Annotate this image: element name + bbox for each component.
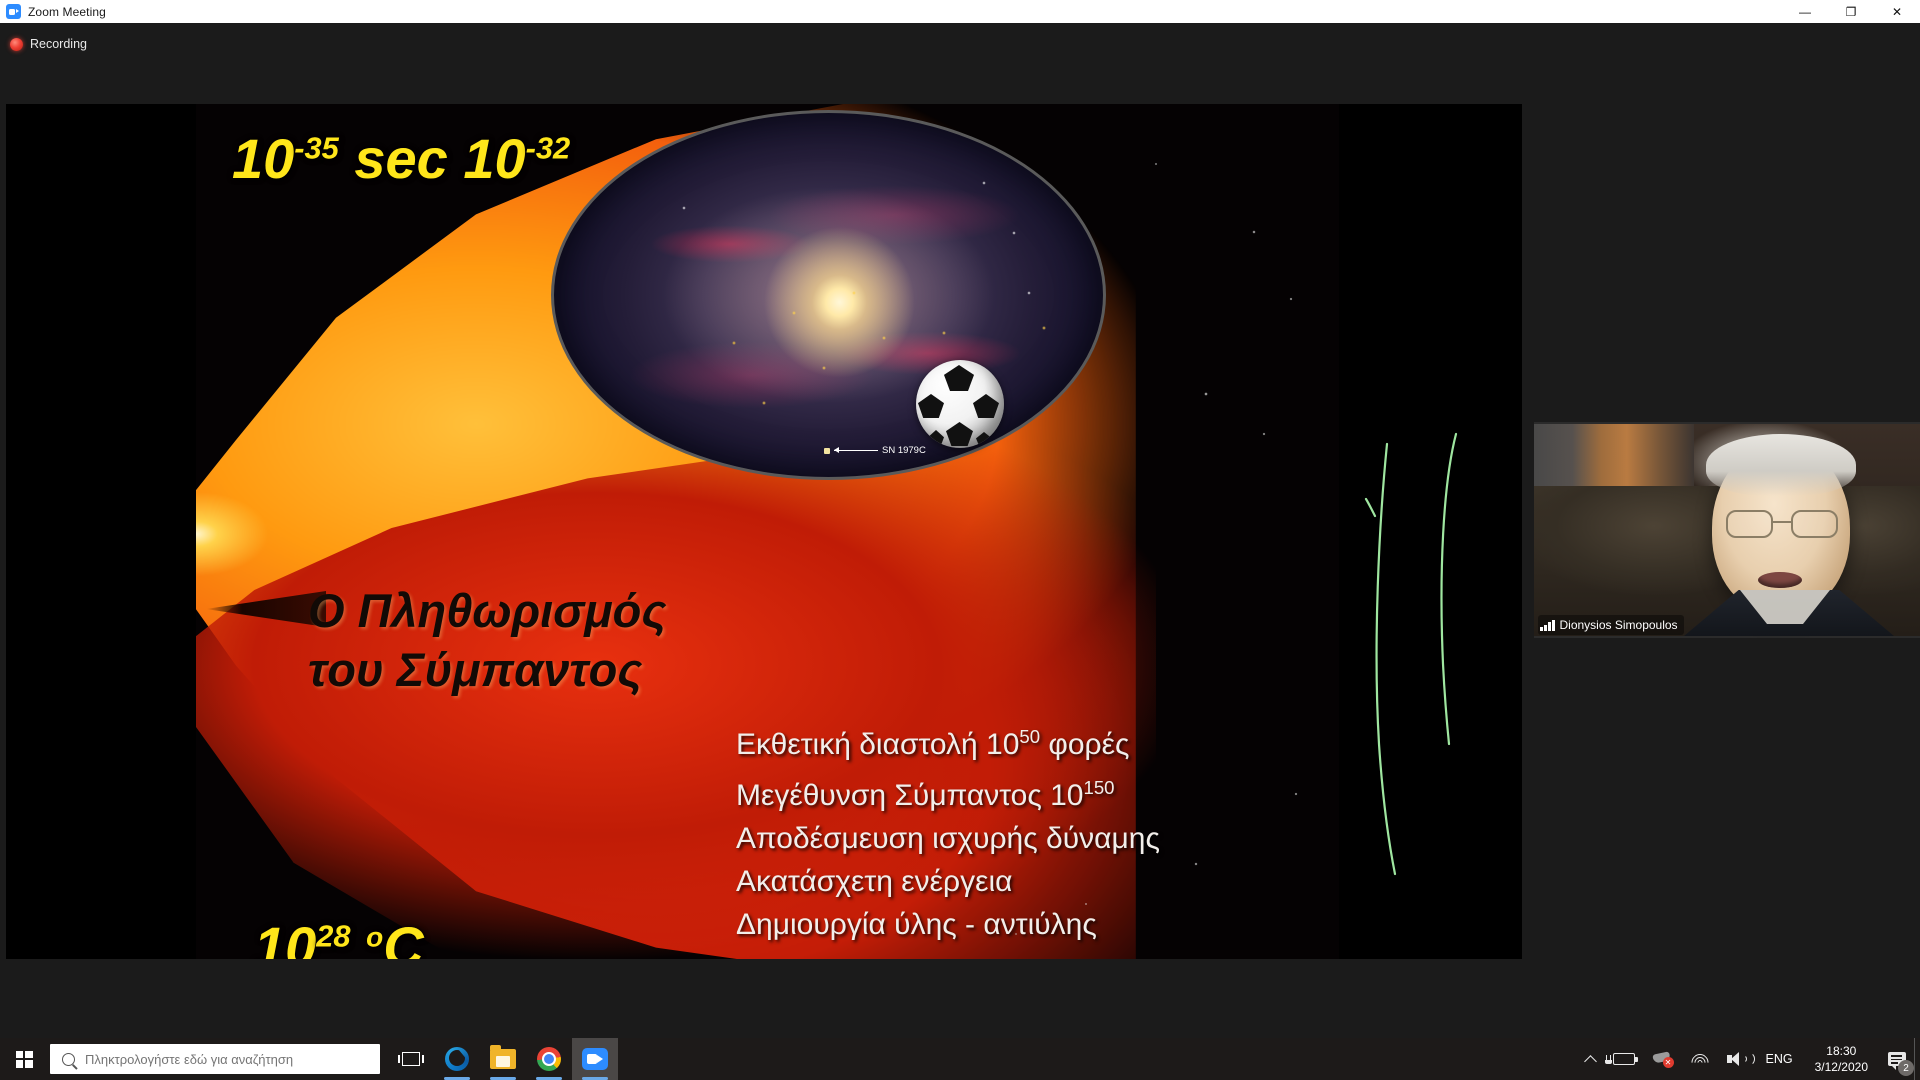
start-button[interactable] (0, 1038, 48, 1080)
search-input[interactable] (85, 1052, 368, 1067)
slide-headline: Ο Πληθωρισμός του Σύμπαντος (308, 581, 666, 699)
restore-button[interactable]: ❐ (1828, 0, 1874, 23)
temperature-label: 1028 oC (254, 914, 424, 959)
wifi-icon (1691, 1052, 1709, 1066)
list-item: Εκθετική διαστολή 1050 φορές (736, 715, 1160, 766)
window-controls: — ❐ ✕ (1782, 0, 1920, 23)
participant-hair (1706, 434, 1856, 496)
record-dot-icon (10, 38, 23, 51)
participant-video-feed (1534, 424, 1920, 636)
list-item: 1050 τόνοι (736, 946, 1160, 959)
spiral-galaxy-image: SN 1979C (551, 110, 1106, 480)
network-disconnected-icon: ✕ (1653, 1052, 1673, 1066)
tray-overflow-button[interactable] (1577, 1038, 1604, 1080)
taskbar-app-zoom[interactable] (572, 1038, 618, 1080)
annotation-strokes (1339, 104, 1522, 959)
tray-battery[interactable] (1604, 1038, 1644, 1080)
degree-symbol: o (366, 921, 383, 952)
clock-date: 3/12/2020 (1815, 1059, 1868, 1075)
task-view-icon (402, 1052, 420, 1066)
tray-language[interactable]: ENG (1756, 1052, 1803, 1066)
task-view-button[interactable] (388, 1038, 434, 1080)
participant-name-badge: Dionysios Simopoulos (1538, 615, 1684, 635)
clock-time: 18:30 (1826, 1043, 1856, 1059)
battery-charging-icon (1613, 1053, 1635, 1065)
time-unit: sec (354, 127, 447, 190)
sn-label-text: SN 1979C (882, 445, 926, 456)
window-titlebar: Zoom Meeting — ❐ ✕ (0, 0, 1920, 23)
recording-indicator[interactable]: Recording (10, 33, 87, 55)
soccer-ball-image (916, 360, 1004, 448)
tray-wifi[interactable] (1682, 1038, 1718, 1080)
recording-label: Recording (30, 37, 87, 51)
close-button[interactable]: ✕ (1874, 0, 1920, 23)
time-range-label: 10-35 sec 10-32 (232, 126, 570, 191)
show-desktop-button[interactable] (1914, 1038, 1920, 1080)
participant-name: Dionysios Simopoulos (1560, 618, 1678, 632)
chrome-icon (537, 1047, 561, 1071)
windows-taskbar: ✕ ENG 18:30 3/12/2020 2 (0, 1038, 1920, 1080)
tray-clock[interactable]: 18:30 3/12/2020 (1803, 1043, 1880, 1075)
taskbar-app-edge[interactable] (434, 1038, 480, 1080)
arrow-icon (834, 450, 878, 452)
zoom-camera-icon (6, 4, 21, 19)
taskbar-app-chrome[interactable] (526, 1038, 572, 1080)
temperature-unit: C (383, 915, 423, 959)
participant-mouth (1758, 572, 1802, 588)
zoom-meeting-window: Zoom Meeting — ❐ ✕ Recording SN 1979C (0, 0, 1920, 1080)
shared-screen-region[interactable]: SN 1979C 10-35 sec 10-32 Ο Πληθωρισμός τ… (6, 104, 1522, 959)
list-item: Αποδέσμευση ισχυρής δύναμης (736, 817, 1160, 860)
tray-volume[interactable] (1718, 1038, 1756, 1080)
taskbar-app-buttons (388, 1038, 618, 1080)
galaxy-star-dots (554, 113, 1103, 477)
zoom-camera-icon (582, 1048, 608, 1070)
tray-network-disconnected[interactable]: ✕ (1644, 1038, 1682, 1080)
presentation-slide: SN 1979C 10-35 sec 10-32 Ο Πληθωρισμός τ… (196, 104, 1339, 959)
list-item: Ακατάσχετη ενέργεια (736, 860, 1160, 903)
participant-video-tile[interactable]: Dionysios Simopoulos (1534, 422, 1920, 638)
supernova-marker-icon (824, 448, 830, 454)
sn-annotation: SN 1979C (824, 445, 926, 456)
edge-icon (445, 1047, 469, 1071)
list-item: Μεγέθυνση Σύμπαντος 10150 (736, 766, 1160, 817)
chevron-up-icon (1584, 1055, 1597, 1068)
signal-bars-icon (1540, 620, 1555, 631)
time-end-exponent: -32 (526, 130, 571, 165)
taskbar-search[interactable] (50, 1044, 380, 1074)
time-start-exponent: -35 (294, 130, 339, 165)
headline-line-1: Ο Πληθωρισμός (308, 581, 666, 640)
temperature-exponent: 28 (316, 918, 350, 953)
windows-logo-icon (16, 1051, 33, 1068)
folder-icon (490, 1049, 516, 1069)
zoom-toolbar-strip: Recording (0, 23, 1920, 105)
time-start: 10 (232, 127, 294, 190)
temperature-base: 10 (254, 915, 316, 959)
minimize-button[interactable]: — (1782, 0, 1828, 23)
taskbar-app-file-explorer[interactable] (480, 1038, 526, 1080)
eyeglasses-icon (1726, 510, 1838, 538)
search-icon (62, 1053, 75, 1066)
volume-icon (1727, 1052, 1747, 1067)
notification-count-badge: 2 (1898, 1060, 1914, 1076)
headline-line-2: του Σύμπαντος (308, 640, 666, 699)
slide-bullet-list: Εκθετική διαστολή 1050 φορές Μεγέθυνση Σ… (736, 715, 1160, 959)
system-tray: ✕ ENG 18:30 3/12/2020 2 (1577, 1038, 1920, 1080)
window-title: Zoom Meeting (28, 5, 106, 19)
list-item: Δημιουργία ύλης - αντιύλης (736, 903, 1160, 946)
time-end: 10 (463, 127, 525, 190)
